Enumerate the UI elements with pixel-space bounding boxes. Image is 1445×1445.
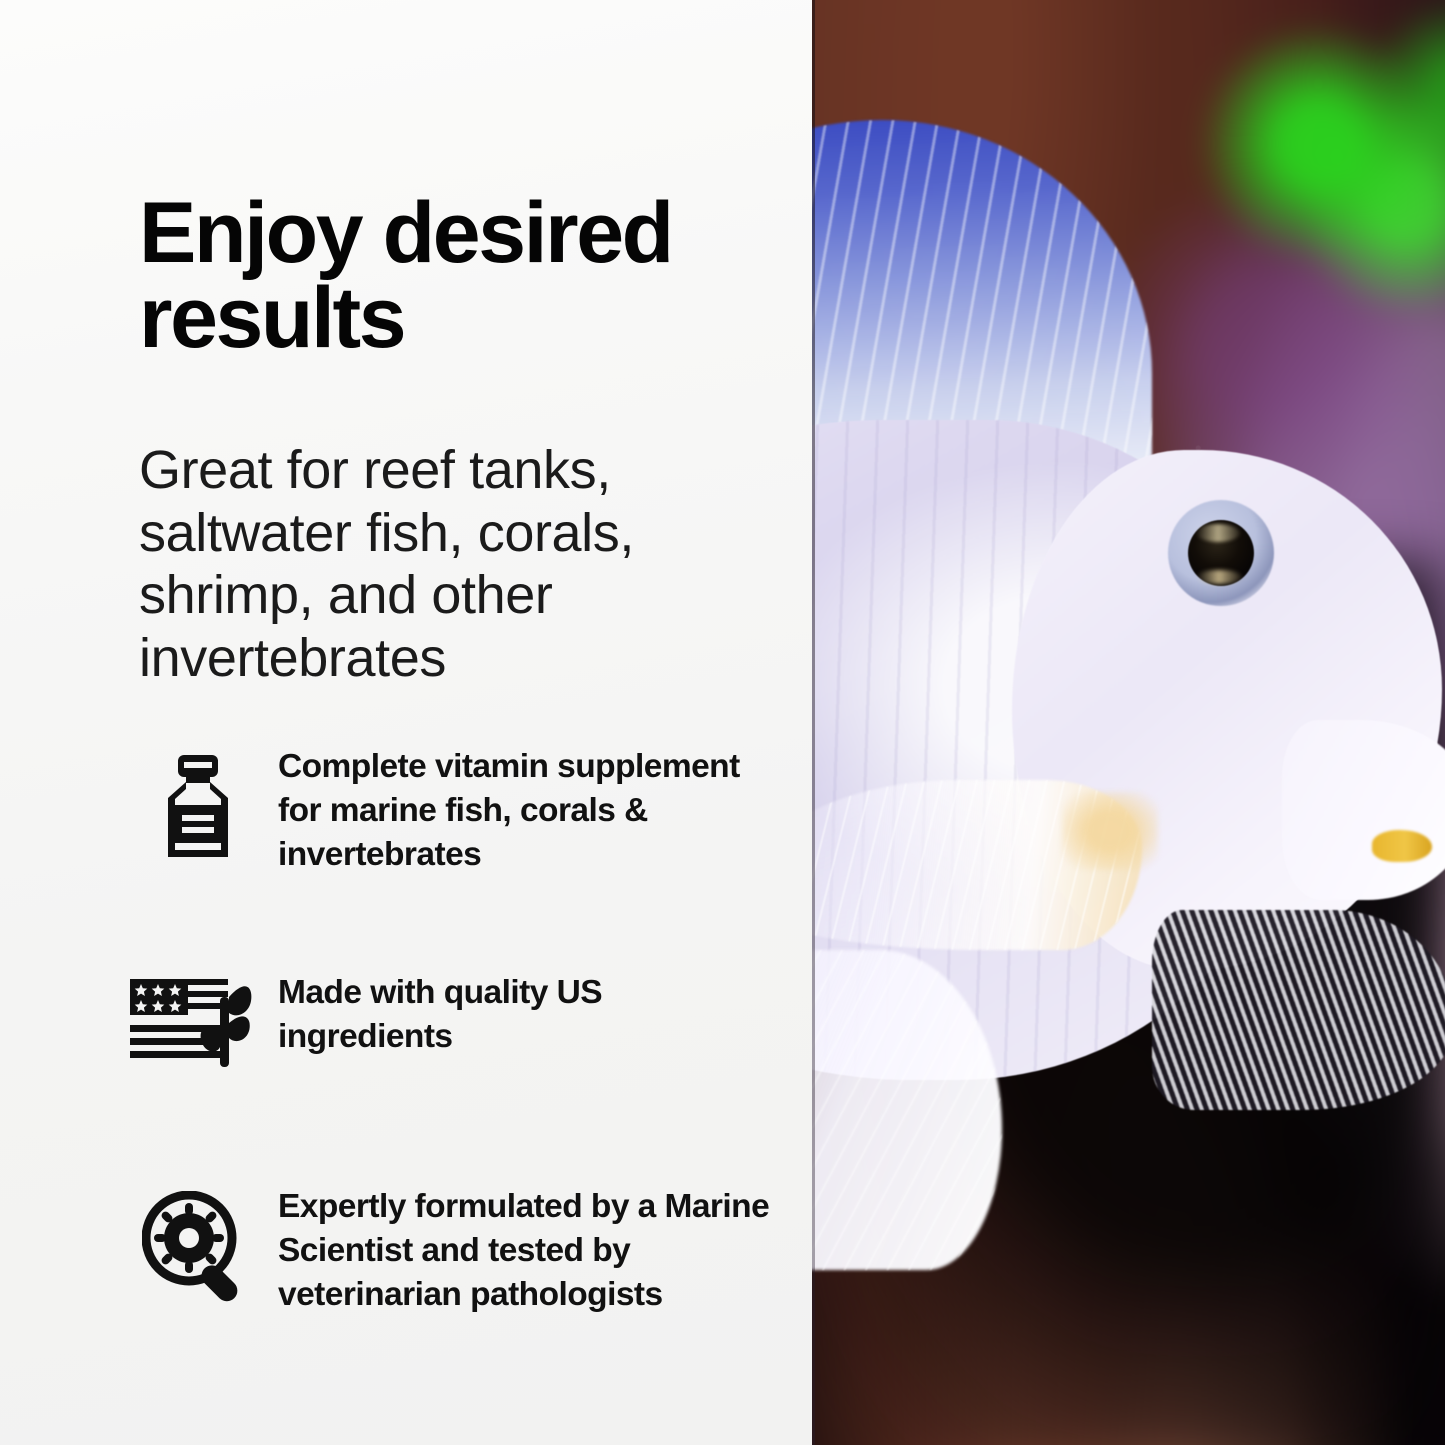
us-flag-plant-icon — [128, 975, 252, 1076]
fish-lip — [1372, 830, 1432, 862]
tang-fish — [812, 120, 1445, 1300]
product-photo — [812, 0, 1445, 1445]
list-item: Made with quality US ingredients — [128, 971, 718, 1076]
fish-eye-highlight — [1196, 524, 1240, 542]
striped-fin — [1152, 910, 1445, 1110]
left-content-panel: Enjoy desired results Great for reef tan… — [0, 0, 812, 1445]
photo-left-edge — [812, 0, 815, 1445]
page-title: Enjoy desired results — [139, 191, 799, 361]
list-item: Complete vitamin supplement for marine f… — [128, 745, 778, 877]
list-item: Expertly formulated by a Marine Scientis… — [128, 1185, 778, 1317]
subheading-text: Great for reef tanks, saltwater fish, co… — [139, 439, 739, 690]
product-feature-card: Enjoy desired results Great for reef tan… — [0, 0, 1445, 1445]
list-item-label: Expertly formulated by a Marine Scientis… — [278, 1185, 778, 1317]
supplement-bottle-icon — [150, 753, 246, 866]
magnifier-microbe-icon — [142, 1191, 254, 1308]
list-item-label: Complete vitamin supplement for marine f… — [278, 745, 778, 877]
fish-snout — [1282, 720, 1445, 900]
pectoral-fin-base — [1062, 792, 1158, 870]
list-item-label: Made with quality US ingredients — [278, 971, 718, 1059]
fish-eye-highlight-lower — [1196, 570, 1242, 584]
